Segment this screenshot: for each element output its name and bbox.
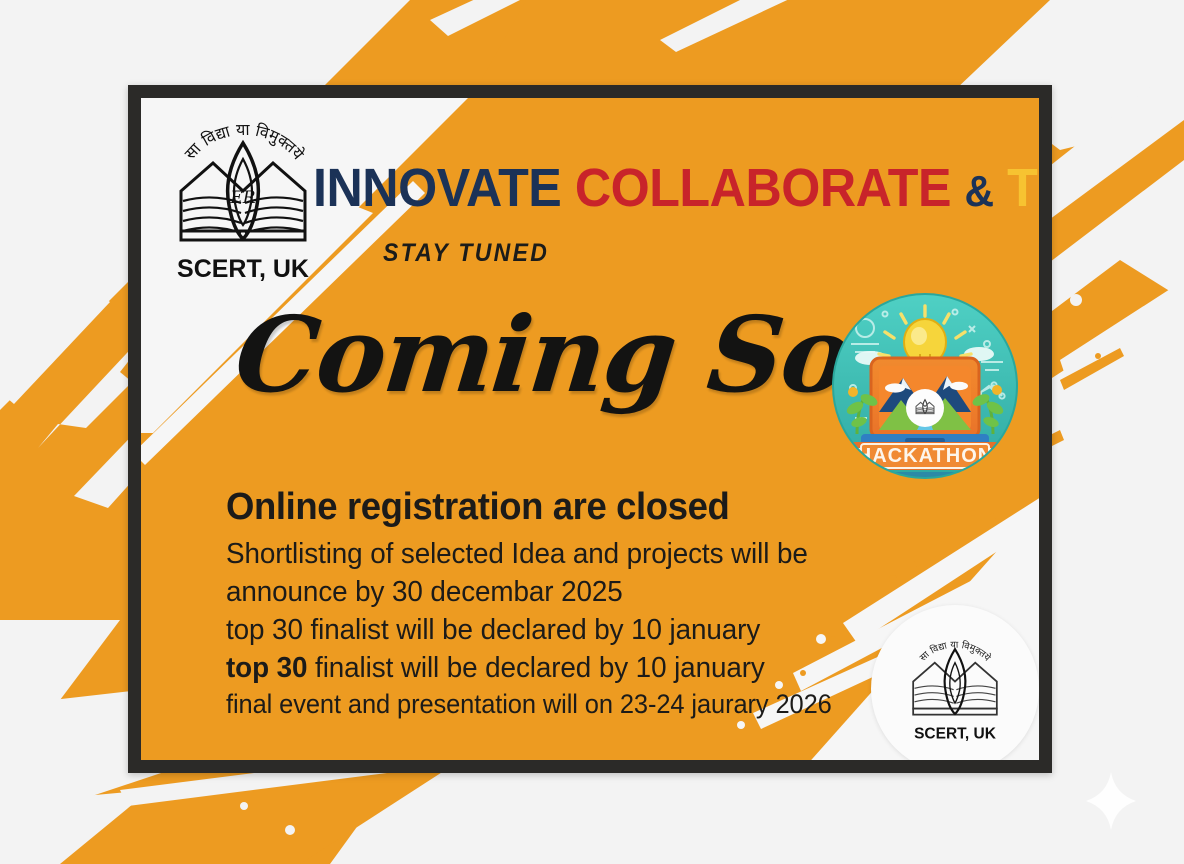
announcement-line-1: Shortlisting of selected Idea and projec… <box>226 536 888 574</box>
headline-word-innovate: INNOVATE <box>313 158 561 218</box>
scert-motto: सा विद्या या विमुक्तये <box>181 120 309 164</box>
announcement-heading: Online registration are closed <box>226 486 888 529</box>
announcement-line-2: announce by 30 decembar 2025 <box>226 574 888 612</box>
four-point-sparkle-icon <box>1086 772 1136 830</box>
svg-text:ER: ER <box>229 188 255 208</box>
scert-round-logo: सा विद्या या विमुक्तये SCERT, UK <box>871 605 1039 760</box>
header-row: सा विद्या या विमुक्तये <box>155 111 1039 291</box>
scert-logo-mark: सा विद्या या विमुक्तये <box>167 119 319 285</box>
hackathon-badge-mark: HACKATHON <box>831 292 1019 480</box>
frame-content: सा विद्या या विमुक्तये <box>141 98 1039 760</box>
headline-word-collaborate: COLLABORATE <box>575 158 951 218</box>
headline-ampersand: & <box>964 167 993 216</box>
header-subtitle: STAY TUNED <box>383 239 549 268</box>
announcement-line-4-rest: finalist will be declared by 10 january <box>307 652 764 684</box>
announcement-line-5: final event and presentation will on 23-… <box>226 687 888 722</box>
poster-frame: सा विद्या या विमुक्तये <box>128 85 1052 773</box>
svg-text:सा विद्या या विमुक्तये: सा विद्या या विमुक्तये <box>181 120 309 164</box>
hackathon-badge: HACKATHON <box>831 292 1019 480</box>
announcement-line-4-bold: top 30 <box>226 652 307 684</box>
headline-word-transform: TRANSFORM <box>1007 158 1039 218</box>
scert-round-logo-mark: सा विद्या या विमुक्तये SCERT, UK <box>899 633 1011 745</box>
page-title: INNOVATE COLLABORATE & TRANSFORM <box>313 161 1039 215</box>
scert-logo-caption: SCERT, UK <box>177 255 309 283</box>
scert-logo: सा विद्या या विमुक्तये <box>167 119 319 285</box>
announcement-block: Online registration are closed Shortlist… <box>226 486 916 722</box>
scert-round-caption: SCERT, UK <box>914 725 997 742</box>
poster-canvas: सा विद्या या विमुक्तये <box>0 0 1184 864</box>
announcement-line-3: top 30 finalist will be declared by 10 j… <box>226 612 888 650</box>
announcement-line-4: top 30 finalist will be declared by 10 j… <box>226 650 888 688</box>
